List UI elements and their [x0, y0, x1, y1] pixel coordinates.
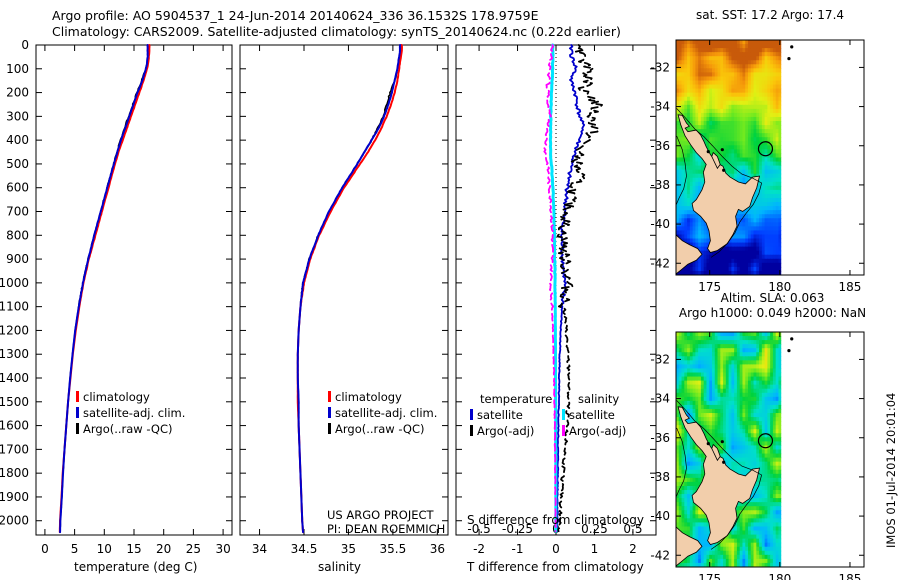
legend-swatch-temp-satellite: [470, 409, 473, 420]
difference-axis-label-bottom: T difference from climatology: [467, 560, 644, 574]
islet: [707, 150, 710, 153]
legend-item: Argo(-adj): [470, 424, 562, 438]
map-sla: 175180185-32-34-36-38-40-42: [640, 300, 900, 580]
x-tick-label: 2: [629, 542, 637, 556]
map-sla-svg: 175180185-32-34-36-38-40-42: [640, 300, 900, 580]
lon-tick-label: 175: [698, 572, 721, 580]
panel-difference: -2-1012-0.5-0.2500.250.5: [0, 0, 670, 580]
legend-label: satellite: [477, 408, 523, 422]
imos-timestamp-container: IMOS 01-Jul-2014 20:01:04: [884, 548, 900, 562]
islet: [721, 148, 724, 151]
lat-tick-label: -32: [650, 352, 670, 366]
x-tick-label: -1: [512, 542, 524, 556]
lat-tick-label: -36: [650, 139, 670, 153]
map-sst-svg: 175180185-32-34-36-38-40-42: [640, 0, 900, 300]
panel-difference-svg: -2-1012-0.5-0.2500.250.5: [0, 0, 670, 580]
legend-label: Argo(-adj): [569, 424, 626, 438]
lon-tick-label: 185: [839, 572, 862, 580]
islet: [787, 349, 790, 352]
legend-group-header-temperature: temperature: [470, 392, 562, 406]
difference-legend: temperature satellite Argo(-adj) salinit…: [470, 392, 655, 438]
x-tick-label: 0: [552, 542, 560, 556]
lat-tick-label: -34: [650, 100, 670, 114]
legend-label: satellite: [569, 408, 615, 422]
difference-axis-label-top: S difference from climatology: [467, 513, 644, 527]
x-tick-label: 1: [591, 542, 599, 556]
islet: [722, 461, 725, 464]
lat-tick-label: -40: [650, 509, 670, 523]
legend-swatch-sal-satellite: [562, 409, 565, 420]
figure-root: Argo profile: AO 5904537_1 24-Jun-2014 2…: [0, 0, 900, 580]
x-tick-label: -2: [473, 542, 485, 556]
lat-tick-label: -40: [650, 217, 670, 231]
legend-label: Argo(-adj): [477, 424, 534, 438]
lat-tick-label: -42: [650, 548, 670, 562]
lat-tick-label: -42: [650, 256, 670, 270]
imos-timestamp: IMOS 01-Jul-2014 20:01:04: [884, 393, 898, 548]
islet: [722, 169, 725, 172]
lat-tick-label: -38: [650, 470, 670, 484]
islet: [790, 45, 793, 48]
lat-tick-label: -36: [650, 431, 670, 445]
lon-tick-label: 180: [768, 572, 791, 580]
islet: [707, 442, 710, 445]
map-sst: 175180185-32-34-36-38-40-42: [640, 0, 900, 300]
lat-tick-label: -38: [650, 178, 670, 192]
lat-tick-label: -32: [650, 60, 670, 74]
lat-tick-label: -34: [650, 392, 670, 406]
legend-item: satellite: [470, 408, 562, 422]
islet: [790, 337, 793, 340]
legend-swatch-temp-argo: [470, 425, 473, 436]
islet: [721, 440, 724, 443]
islet: [787, 57, 790, 60]
legend-swatch-sal-argo: [562, 425, 565, 436]
